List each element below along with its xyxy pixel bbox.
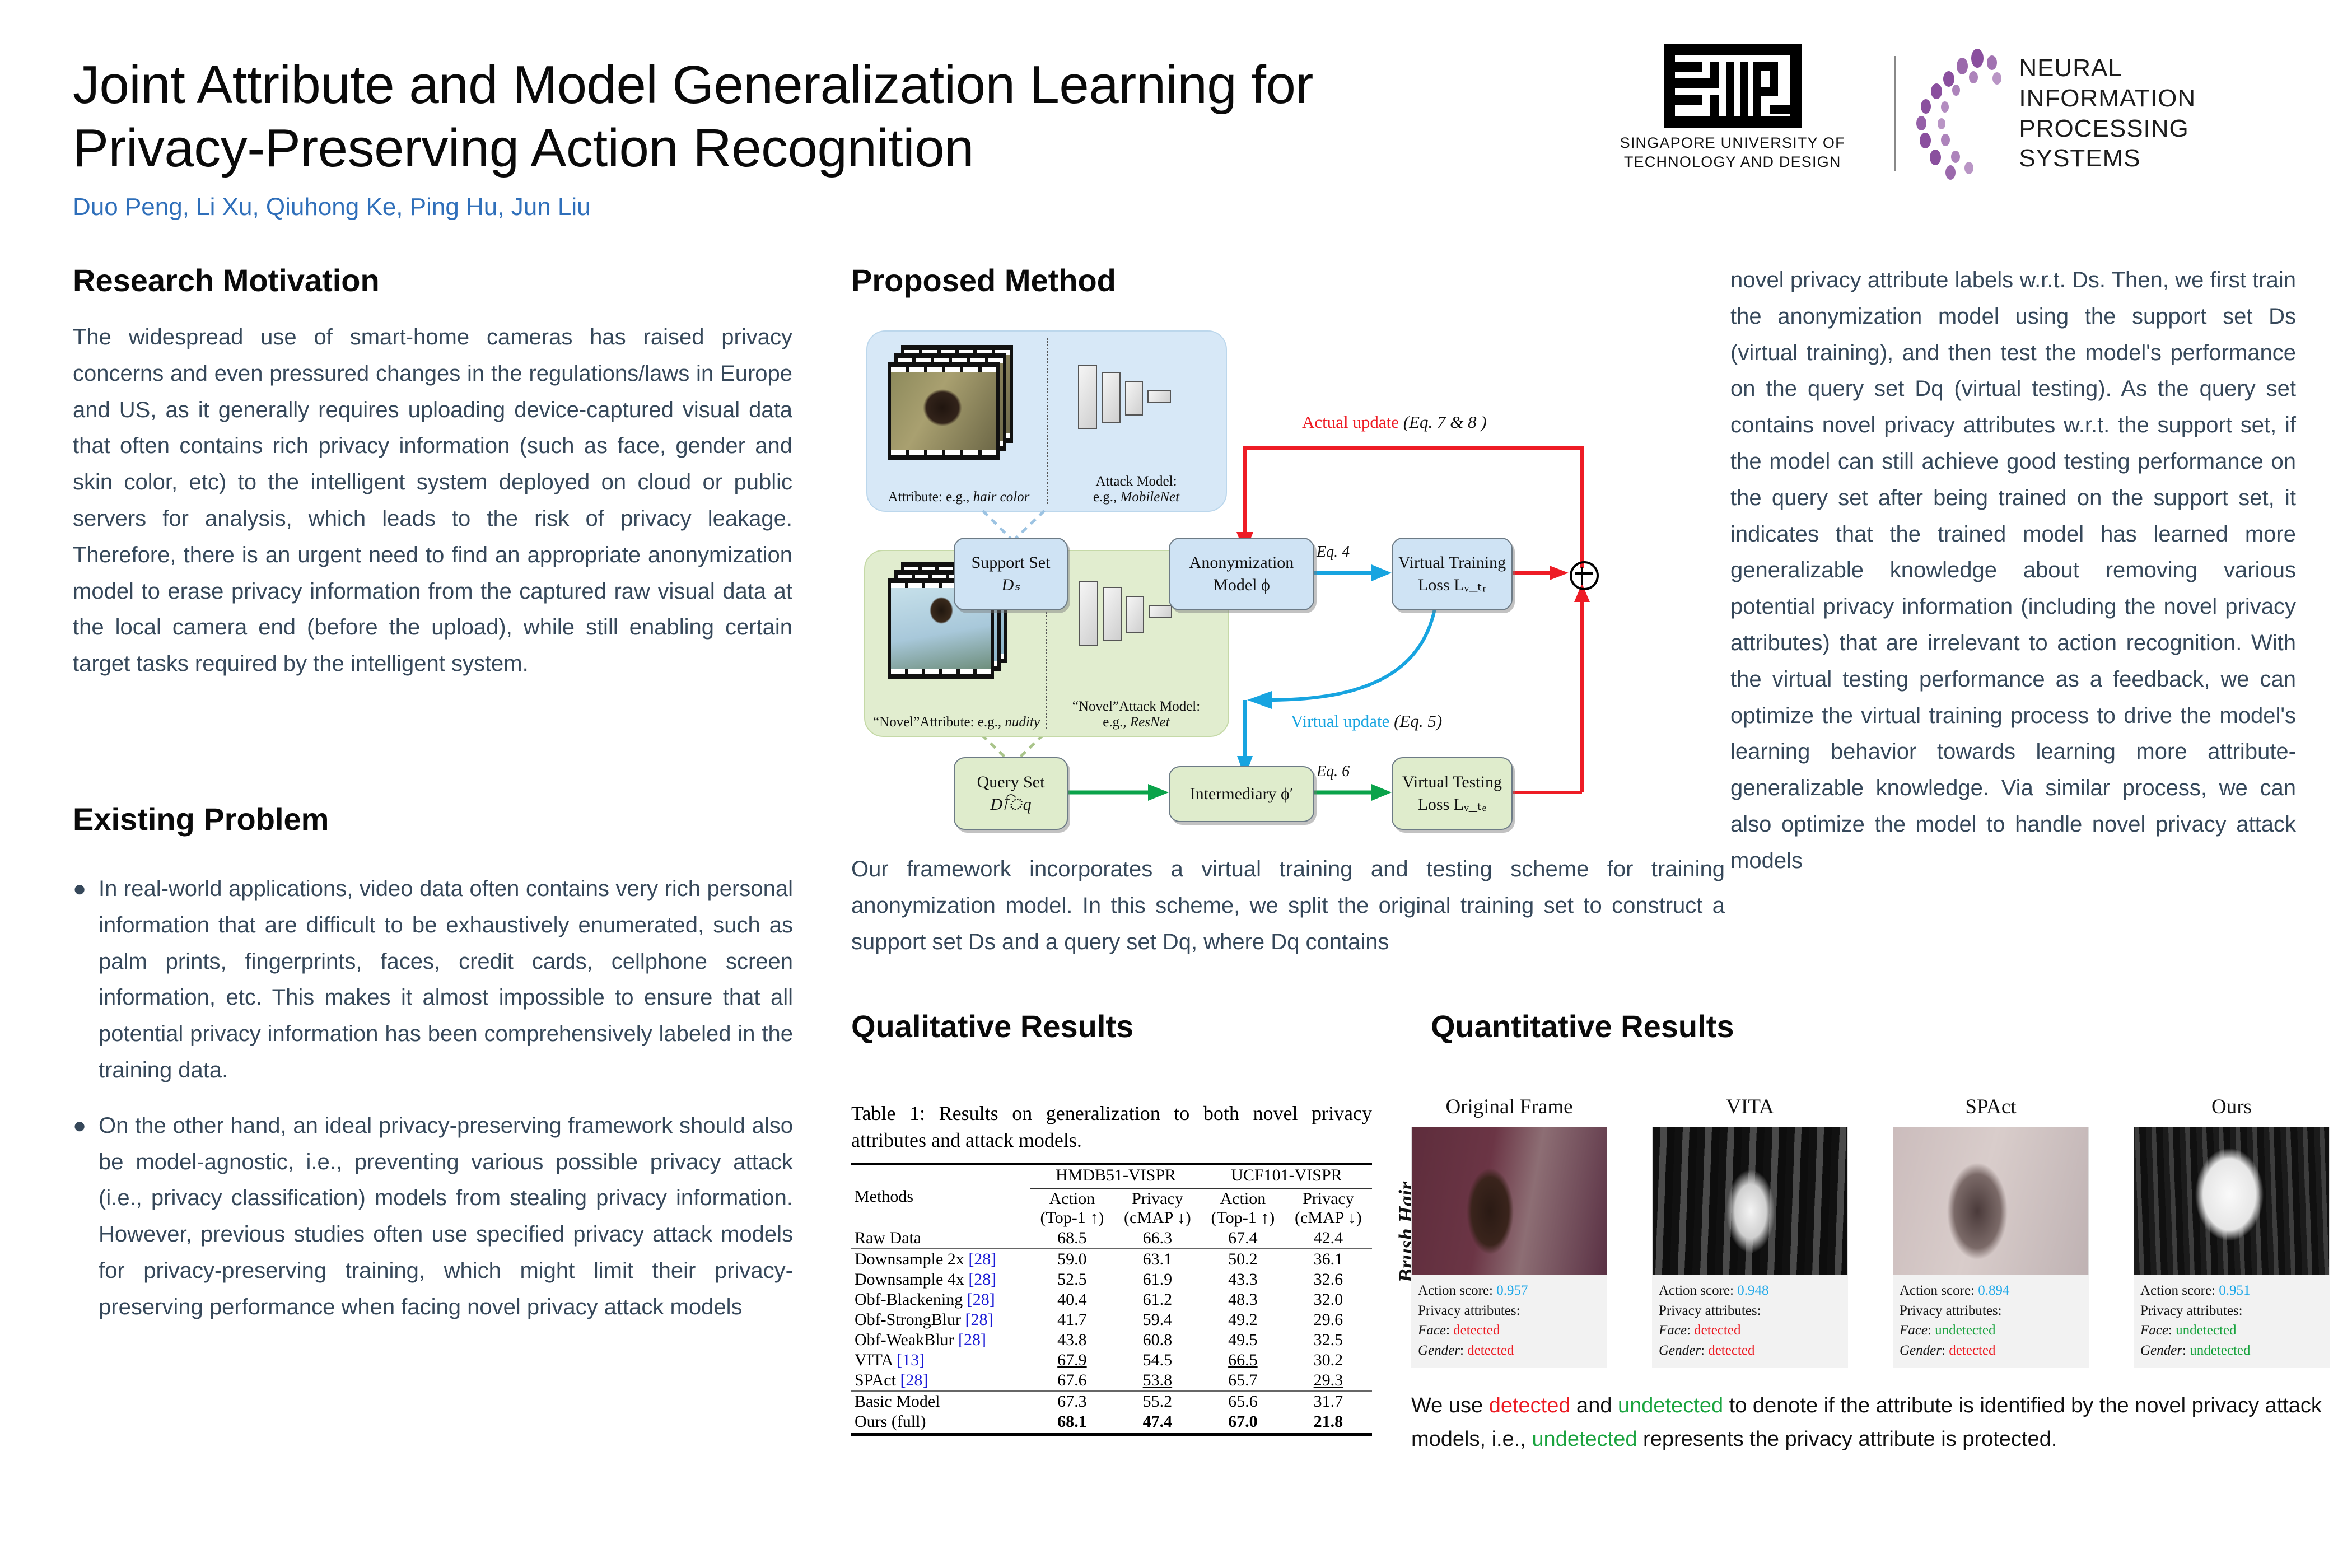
qual-header: Original Frame	[1411, 1095, 1607, 1119]
list-item: ● In real-world applications, video data…	[73, 871, 795, 1089]
table-cell-value: 31.7	[1285, 1391, 1372, 1412]
results-table: Methods HMDB51-VISPR UCF101-VISPR Action…	[851, 1163, 1372, 1432]
author-list: Duo Peng, Li Xu, Qiuhong Ke, Ping Hu, Ju…	[73, 193, 591, 221]
table-cell-value: 54.5	[1114, 1350, 1201, 1370]
table-cell-value: 61.2	[1114, 1290, 1201, 1310]
page-title: Joint Attribute and Model Generalization…	[73, 53, 1506, 180]
neurips-line1: NEURAL INFORMATION	[2019, 53, 2302, 113]
neurips-line2: PROCESSING SYSTEMS	[2019, 114, 2302, 174]
table-row: Raw Data68.566.367.442.4	[851, 1228, 1372, 1249]
table-cell-value: 67.3	[1030, 1391, 1114, 1412]
qual-privacy-label: Privacy attributes:	[2140, 1301, 2323, 1321]
label-actual-update: Actual update (Eq. 7 & 8 )	[1302, 412, 1487, 432]
qual-info: Action score: 0.948 Privacy attributes: …	[1652, 1275, 1848, 1368]
qual-info: Action score: 0.951 Privacy attributes: …	[2134, 1275, 2330, 1368]
qual-header: SPAct	[1893, 1095, 2089, 1119]
bullet-dot-icon: ●	[73, 1108, 99, 1326]
table-group-header-row: Methods HMDB51-VISPR UCF101-VISPR	[851, 1164, 1372, 1186]
table-cell-method: SPAct [28]	[851, 1370, 1030, 1391]
neurips-logo-text: NEURAL INFORMATION PROCESSING SYSTEMS	[2019, 53, 2302, 174]
qual-header: Ours	[2134, 1095, 2330, 1119]
qual-privacy-label: Privacy attributes:	[1659, 1301, 1841, 1321]
qual-privacy-label: Privacy attributes:	[1418, 1301, 1600, 1321]
query-attack-caption: “Novel”Attack Model: e.g., ResNet	[1049, 699, 1224, 730]
table-cell-reference: [13]	[897, 1351, 925, 1369]
neurips-dots-icon	[1908, 46, 2014, 181]
qual-header: VITA	[1652, 1095, 1848, 1119]
existing-problem-bullets: ● In real-world applications, video data…	[73, 871, 795, 1345]
table-cell-method: Obf-Blackening [28]	[851, 1290, 1030, 1310]
table-cell-value: 40.4	[1030, 1290, 1114, 1310]
heading-quantitative-results: Quantitative Results	[1431, 1008, 1734, 1044]
qual-info: Action score: 0.957 Privacy attributes: …	[1411, 1275, 1607, 1368]
table-cell-reference: [28]	[965, 1310, 993, 1329]
node-intermediary: Intermediary ϕ′	[1169, 766, 1314, 822]
table-row: Obf-StrongBlur [28]41.759.449.229.6	[851, 1310, 1372, 1330]
table-cell-method: Obf-StrongBlur [28]	[851, 1310, 1030, 1330]
table-cell-reference: [28]	[968, 1270, 996, 1289]
table-cell-value: 43.3	[1201, 1270, 1285, 1290]
subheader-ucf-privacy: Privacy(cMAP ↓)	[1285, 1188, 1372, 1228]
table-cell-value: 63.1	[1114, 1249, 1201, 1270]
logo-divider	[1894, 56, 1896, 171]
qual-column-vita[interactable]: VITA Action score: 0.948 Privacy attribu…	[1652, 1095, 1848, 1368]
results-table-block: Table 1: Results on generalization to bo…	[851, 1100, 1372, 1436]
table-cell-method: Obf-WeakBlur [28]	[851, 1330, 1030, 1350]
qual-column-ours[interactable]: Ours Action score: 0.951 Privacy attribu…	[2134, 1095, 2330, 1368]
table-cell-value: 50.2	[1201, 1249, 1285, 1270]
proposed-method-paragraph: Our framework incorporates a virtual tra…	[851, 851, 1725, 960]
table-row: Basic Model67.355.265.631.7	[851, 1391, 1372, 1412]
qual-image-vita[interactable]	[1652, 1127, 1848, 1275]
qual-column-spact[interactable]: SPAct Action score: 0.894 Privacy attrib…	[1893, 1095, 2089, 1368]
col-header-ucf101: UCF101-VISPR	[1201, 1164, 1372, 1186]
table-cell-value: 55.2	[1114, 1391, 1201, 1412]
table-cell-value: 29.3	[1285, 1370, 1372, 1391]
qual-action-score: Action score: 0.951	[2140, 1281, 2323, 1301]
table-cell-value: 32.0	[1285, 1290, 1372, 1310]
proposed-method-diagram: Attribute: e.g., hair color Attack Model…	[843, 297, 1739, 801]
label-eq4: Eq. 4	[1317, 543, 1350, 561]
table-cell-value: 65.6	[1201, 1391, 1285, 1412]
heading-existing-problem: Existing Problem	[73, 801, 329, 837]
sutd-logo: SINGAPORE UNIVERSITY OF TECHNOLOGY AND D…	[1574, 44, 1891, 184]
node-virtual-testing-loss: Virtual Testing Loss Lᵥ_ₜₑ	[1392, 757, 1513, 830]
qual-gender: Gender: detected	[1900, 1341, 2082, 1361]
table-cell-method: Downsample 2x [28]	[851, 1249, 1030, 1270]
qual-column-original[interactable]: Original Frame Action score: 0.957 Priva…	[1411, 1095, 1607, 1368]
table-cell-value: 21.8	[1285, 1412, 1372, 1432]
table-row: Ours (full)68.147.467.021.8	[851, 1412, 1372, 1432]
qual-image-spact[interactable]	[1893, 1127, 2089, 1275]
col-header-methods: Methods	[851, 1164, 1030, 1229]
table-cell-value: 43.8	[1030, 1330, 1114, 1350]
list-item: ● On the other hand, an ideal privacy-pr…	[73, 1108, 795, 1326]
table-row: Obf-Blackening [28]40.461.248.332.0	[851, 1290, 1372, 1310]
table-cell-value: 60.8	[1114, 1330, 1201, 1350]
research-motivation-paragraph: The widespread use of smart-home cameras…	[73, 319, 792, 682]
qual-face: Face: detected	[1418, 1320, 1600, 1341]
table-cell-reference: [28]	[900, 1371, 928, 1389]
heading-qualitative-results: Qualitative Results	[851, 1008, 1133, 1044]
heading-research-motivation: Research Motivation	[73, 262, 380, 298]
node-support-set: Support Set Dₛ	[954, 538, 1068, 610]
table-cell-value: 68.5	[1030, 1228, 1114, 1249]
qual-gender: Gender: undetected	[2140, 1341, 2323, 1361]
table-cell-value: 29.6	[1285, 1310, 1372, 1330]
table-cell-method: Downsample 4x [28]	[851, 1270, 1030, 1290]
table-cell-value: 67.6	[1030, 1370, 1114, 1391]
table-cell-value: 32.5	[1285, 1330, 1372, 1350]
subheader-ucf-action: Action(Top-1 ↑)	[1201, 1188, 1285, 1228]
qual-face: Face: undetected	[2140, 1320, 2323, 1341]
table-cell-value: 65.7	[1201, 1370, 1285, 1391]
qual-privacy-label: Privacy attributes:	[1900, 1301, 2082, 1321]
bullet-dot-icon: ●	[73, 871, 99, 1089]
sutd-logo-line1: SINGAPORE UNIVERSITY OF	[1620, 133, 1845, 153]
table-cell-method: Raw Data	[851, 1228, 1030, 1249]
table-cell-reference: [28]	[968, 1250, 996, 1268]
table-row: Downsample 4x [28]52.561.943.332.6	[851, 1270, 1372, 1290]
table-cell-value: 32.6	[1285, 1270, 1372, 1290]
bullet-text: In real-world applications, video data o…	[99, 871, 793, 1089]
qual-action-score: Action score: 0.948	[1659, 1281, 1841, 1301]
table-row: SPAct [28]67.653.865.729.3	[851, 1370, 1372, 1391]
query-attribute-caption: “Novel”Attribute: e.g., nudity	[867, 715, 1046, 730]
sutd-mark-icon	[1664, 44, 1802, 128]
table-cell-value: 49.2	[1201, 1310, 1285, 1330]
table-cell-value: 68.1	[1030, 1412, 1114, 1432]
table-bottom-rule	[851, 1433, 1372, 1436]
node-anonymization-model: Anonymization Model ϕ	[1169, 538, 1314, 610]
label-eq6: Eq. 6	[1317, 763, 1350, 781]
right-column-paragraph: novel privacy attribute labels w.r.t. Ds…	[1730, 262, 2296, 879]
qual-action-score: Action score: 0.894	[1900, 1281, 2082, 1301]
heading-proposed-method: Proposed Method	[851, 262, 1116, 298]
qual-gender: Gender: detected	[1659, 1341, 1841, 1361]
bullet-text: On the other hand, an ideal privacy-pres…	[99, 1108, 793, 1326]
table-cell-reference: [28]	[967, 1290, 995, 1309]
table-cell-value: 59.4	[1114, 1310, 1201, 1330]
table-cell-reference: [28]	[958, 1331, 986, 1349]
table-cell-value: 48.3	[1201, 1290, 1285, 1310]
table-cell-value: 67.9	[1030, 1350, 1114, 1370]
subheader-hmdb-privacy: Privacy(cMAP ↓)	[1114, 1188, 1201, 1228]
table-row: VITA [13]67.954.566.530.2	[851, 1350, 1372, 1370]
table-body: Raw Data68.566.367.442.4Downsample 2x [2…	[851, 1228, 1372, 1432]
table-cell-value: 66.3	[1114, 1228, 1201, 1249]
table-cell-value: 61.9	[1114, 1270, 1201, 1290]
qual-action-score: Action score: 0.957	[1418, 1281, 1600, 1301]
table-cell-value: 30.2	[1285, 1350, 1372, 1370]
node-virtual-training-loss: Virtual Training Loss Lᵥ_ₜᵣ	[1392, 538, 1513, 610]
label-virtual-update: Virtual update (Eq. 5)	[1291, 711, 1442, 731]
qual-info: Action score: 0.894 Privacy attributes: …	[1893, 1275, 2089, 1368]
table-cell-value: 49.5	[1201, 1330, 1285, 1350]
qual-image-original-frame[interactable]	[1411, 1127, 1607, 1275]
table-caption: Table 1: Results on generalization to bo…	[851, 1100, 1372, 1154]
table-cell-value: 67.4	[1201, 1228, 1285, 1249]
sum-operator-icon	[1570, 561, 1599, 590]
sutd-logo-text: SINGAPORE UNIVERSITY OF TECHNOLOGY AND D…	[1620, 133, 1845, 172]
table-cell-value: 42.4	[1285, 1228, 1372, 1249]
logo-row: SINGAPORE UNIVERSITY OF TECHNOLOGY AND D…	[1574, 42, 2302, 185]
table-cell-value: 47.4	[1114, 1412, 1201, 1432]
node-query-set: Query Set Dিq	[954, 757, 1068, 830]
table-cell-value: 66.5	[1201, 1350, 1285, 1370]
qualitative-caption: We use detected and undetected to denote…	[1411, 1389, 2330, 1456]
qual-face: Face: undetected	[1900, 1320, 2082, 1341]
table-row: Downsample 2x [28]59.063.150.236.1	[851, 1249, 1372, 1270]
table-cell-method: VITA [13]	[851, 1350, 1030, 1370]
sutd-logo-line2: TECHNOLOGY AND DESIGN	[1620, 152, 1845, 172]
subheader-hmdb-action: Action(Top-1 ↑)	[1030, 1188, 1114, 1228]
table-row: Obf-WeakBlur [28]43.860.849.532.5	[851, 1330, 1372, 1350]
table-cell-value: 67.0	[1201, 1412, 1285, 1432]
table-cell-method: Ours (full)	[851, 1412, 1030, 1432]
table-cell-value: 59.0	[1030, 1249, 1114, 1270]
neurips-logo: NEURAL INFORMATION PROCESSING SYSTEMS	[1908, 46, 2302, 181]
table-cell-value: 36.1	[1285, 1249, 1372, 1270]
qual-gender: Gender: detected	[1418, 1341, 1600, 1361]
qual-face: Face: detected	[1659, 1320, 1841, 1341]
table-cell-value: 41.7	[1030, 1310, 1114, 1330]
qual-image-ours[interactable]	[2134, 1127, 2330, 1275]
table-cell-value: 53.8	[1114, 1370, 1201, 1391]
table-cell-method: Basic Model	[851, 1391, 1030, 1412]
table-cell-value: 52.5	[1030, 1270, 1114, 1290]
col-header-hmdb51: HMDB51-VISPR	[1030, 1164, 1201, 1186]
